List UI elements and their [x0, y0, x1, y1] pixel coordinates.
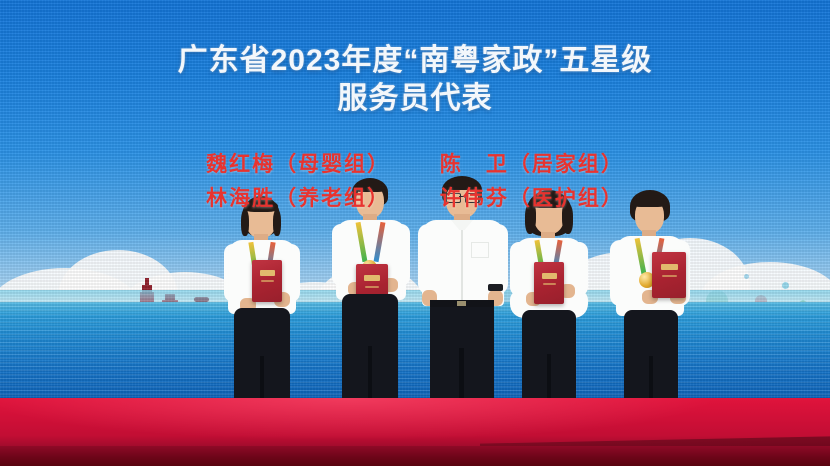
- person-5-arm-left: [610, 240, 630, 306]
- person-3-shirt-placket: [461, 224, 463, 302]
- person-1-side-hair: [241, 210, 249, 236]
- person-4-arm-left: [510, 242, 528, 296]
- person-3-glasses: [446, 193, 478, 201]
- person-3-fringe: [444, 180, 480, 190]
- person-4-certificate: [534, 262, 564, 304]
- person-2-fringe: [354, 182, 386, 192]
- person-3-belt-buckle: [457, 301, 466, 306]
- person-3-shirt-pocket: [471, 242, 489, 258]
- person-3-arm-left: [418, 224, 438, 294]
- person-4-bob-left: [525, 204, 536, 234]
- person-5-certificate: [652, 252, 686, 298]
- person-4-bob-right: [562, 204, 573, 234]
- person-3-wristwatch: [488, 284, 503, 291]
- person-1-fringe: [244, 200, 278, 212]
- ceremony-photo: 里 世界客 广东省2023年度“南粤家政”五星级 服务员代表 魏红: [0, 0, 830, 466]
- person-5-fringe: [632, 195, 667, 207]
- person-2-arm-right: [392, 224, 410, 286]
- river-stripes: [0, 302, 830, 400]
- person-1-arm-left: [224, 244, 242, 302]
- person-1-side-hair-right: [273, 210, 281, 236]
- led-backdrop-screen: 里 世界客: [0, 0, 830, 400]
- person-1-certificate: [252, 260, 282, 302]
- person-2-arm-left: [332, 224, 350, 286]
- stage-floor-front-edge: [0, 446, 830, 466]
